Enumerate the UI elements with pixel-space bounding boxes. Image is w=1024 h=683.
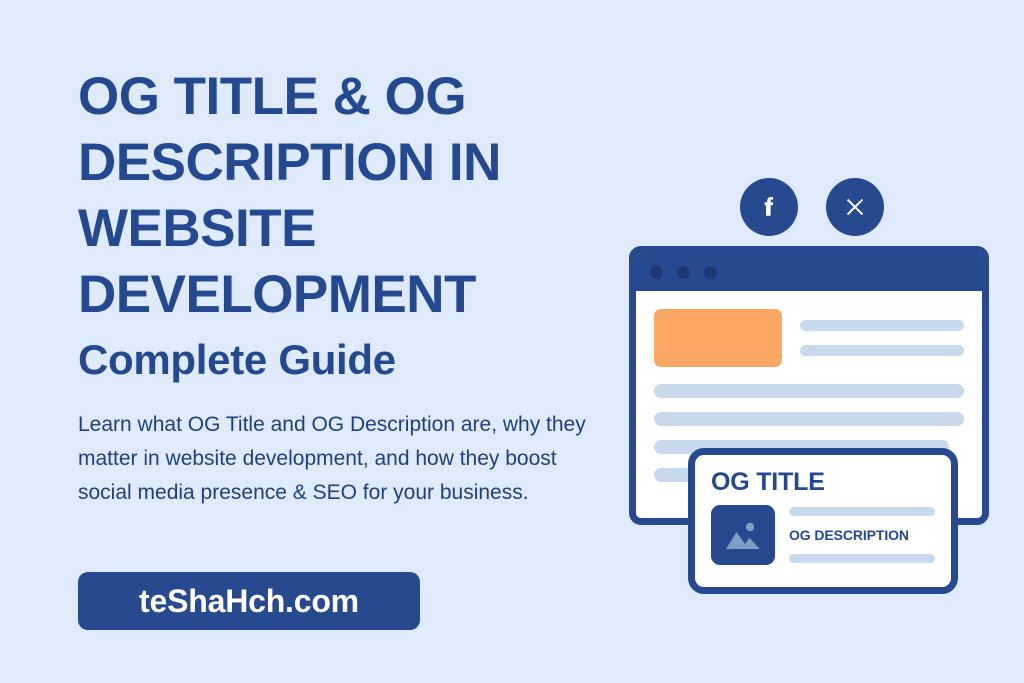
x-twitter-icon[interactable] [826, 178, 884, 236]
facebook-icon[interactable] [740, 178, 798, 236]
page-subtitle: Complete Guide [78, 334, 598, 386]
og-description-label: OG DESCRIPTION [789, 527, 935, 543]
placeholder-bar [654, 384, 964, 398]
window-dot-maximize [704, 266, 717, 279]
hero-text-block: OG TITLE & OG DESCRIPTION IN WEBSITE DEV… [78, 64, 598, 510]
website-cta-button[interactable]: teShaHch.com [78, 572, 420, 630]
og-description-block: OG DESCRIPTION [789, 505, 935, 565]
browser-titlebar [636, 253, 982, 291]
hero-description: Learn what OG Title and OG Description a… [78, 408, 598, 510]
og-illustration: OG TITLE OG DESCRIPTION [610, 160, 1010, 630]
social-icon-row [740, 178, 884, 236]
placeholder-bar [800, 320, 964, 331]
window-dot-minimize [677, 266, 690, 279]
browser-hero-thumbnail [654, 309, 782, 367]
headline-line-2: DESCRIPTION IN [78, 133, 501, 192]
placeholder-bar [800, 345, 964, 356]
headline-line-1: OG TITLE & OG [78, 67, 466, 126]
headline-line-3: WEBSITE [78, 199, 316, 258]
placeholder-bar [789, 507, 935, 516]
browser-hero-row [654, 309, 964, 367]
window-dot-close [650, 266, 663, 279]
image-placeholder-icon [711, 505, 775, 565]
placeholder-bar [654, 412, 964, 426]
page-title: OG TITLE & OG DESCRIPTION IN WEBSITE DEV… [78, 64, 598, 328]
og-card-body: OG DESCRIPTION [711, 505, 935, 565]
browser-hero-text-lines [800, 309, 964, 356]
og-preview-card: OG TITLE OG DESCRIPTION [688, 448, 958, 594]
og-title-label: OG TITLE [711, 469, 935, 495]
placeholder-bar [789, 554, 935, 563]
infographic-canvas: OG TITLE & OG DESCRIPTION IN WEBSITE DEV… [0, 0, 1024, 683]
headline-line-4: DEVELOPMENT [78, 265, 476, 324]
